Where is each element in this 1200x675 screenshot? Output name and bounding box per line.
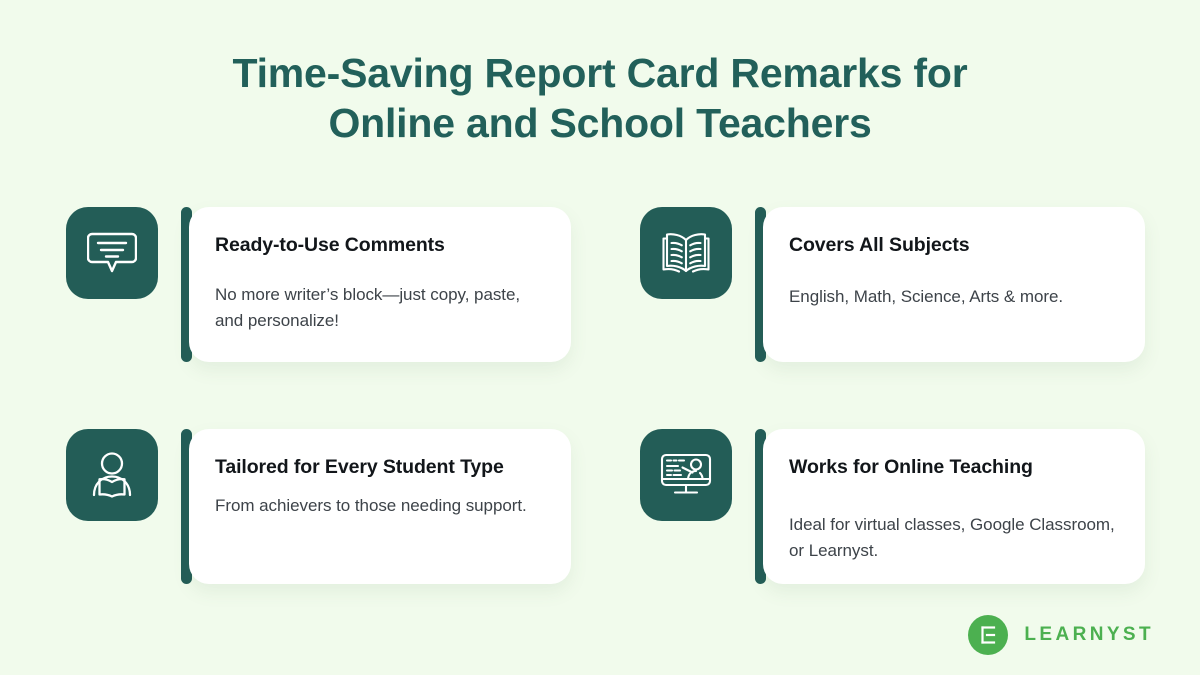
learnyst-logo: LEARNYST [968,615,1154,655]
card-heading: Tailored for Every Student Type [215,455,541,480]
open-book-icon [661,230,711,276]
card-body-text: From achievers to those needing support. [215,493,541,519]
infographic-canvas: Time-Saving Report Card Remarks for Onli… [0,0,1200,675]
student-reading-icon [88,451,136,499]
card-content: Ready-to-Use Comments No more writer’s b… [189,207,571,362]
feature-card-tailored-for-every-student-type: Tailored for Every Student Type From ach… [66,429,571,584]
card-heading: Covers All Subjects [789,233,1115,258]
feature-card-covers-all-subjects: Covers All Subjects English, Math, Scien… [640,207,1145,362]
page-title-line-2: Online and School Teachers [0,98,1200,148]
feature-card-ready-to-use-comments: Ready-to-Use Comments No more writer’s b… [66,207,571,362]
learnyst-wordmark: LEARNYST [1024,624,1154,646]
online-teaching-monitor-icon [660,452,712,498]
open-book-icon-tile [640,207,732,299]
learnyst-e-mark-icon [968,615,1008,655]
card-body-text: Ideal for virtual classes, Google Classr… [789,512,1115,564]
card-content: Covers All Subjects English, Math, Scien… [763,207,1145,362]
student-reading-icon-tile [66,429,158,521]
card-heading: Ready-to-Use Comments [215,233,541,258]
card-content: Works for Online Teaching Ideal for virt… [763,429,1145,584]
speech-bubble-icon-tile [66,207,158,299]
card-content: Tailored for Every Student Type From ach… [189,429,571,584]
online-teaching-monitor-icon-tile [640,429,732,521]
speech-bubble-icon [87,230,137,276]
page-title-line-1: Time-Saving Report Card Remarks for [232,50,967,96]
card-body-text: No more writer’s block—just copy, paste,… [215,282,541,334]
card-body-text: English, Math, Science, Arts & more. [789,284,1115,310]
page-title: Time-Saving Report Card Remarks for Onli… [0,48,1200,148]
card-heading: Works for Online Teaching [789,455,1115,480]
feature-card-works-for-online-teaching: Works for Online Teaching Ideal for virt… [640,429,1145,584]
